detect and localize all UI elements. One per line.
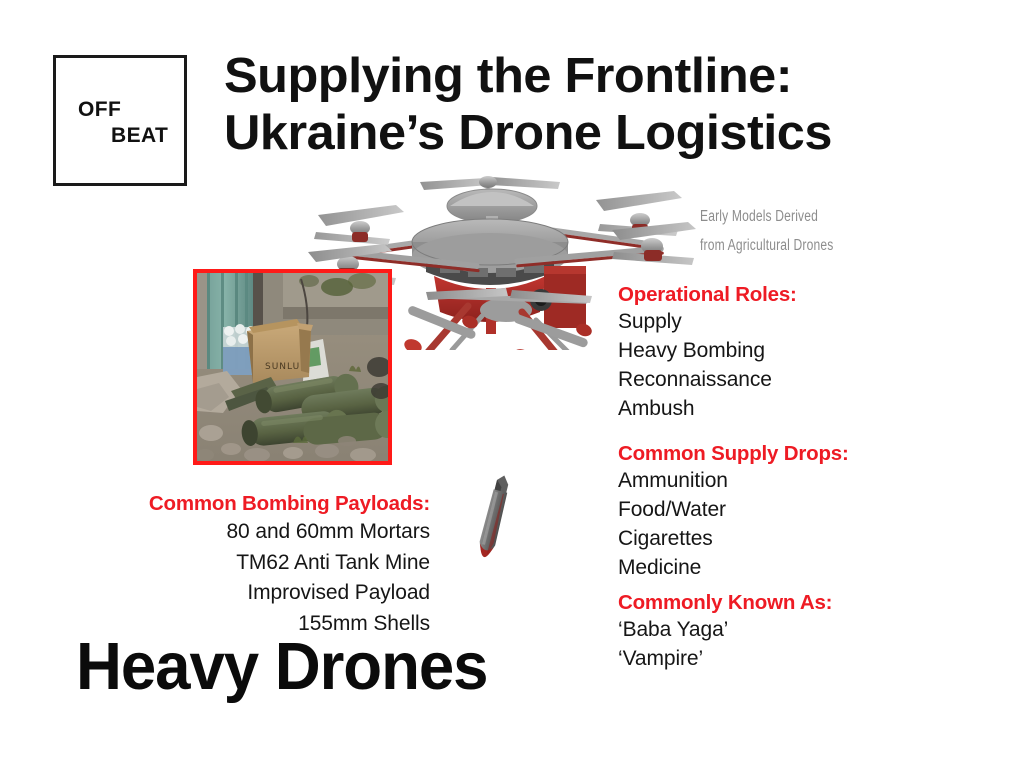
footer-heading: Heavy Drones: [76, 633, 487, 700]
operational-roles-item-4: Ambush: [618, 395, 968, 424]
drone-origin-caption: Early Models Derived from Agricultural D…: [700, 203, 903, 260]
page-title-line-1: Supplying the Frontline:: [224, 49, 792, 103]
drone-origin-caption-line-1: Early Models Derived: [700, 203, 903, 232]
common-supply-drops-heading: Common Supply Drops:: [618, 440, 968, 467]
page-title-line-2: Ukraine’s Drone Logistics: [224, 105, 1024, 162]
svg-text:SUNLU: SUNLU: [265, 362, 300, 372]
munitions-photo: SUNLU: [193, 269, 392, 465]
offbeat-logo-box: OFF BEAT: [53, 55, 187, 186]
common-supply-drops-item-3: Cigarettes: [618, 525, 968, 554]
common-supply-drops-item-4: Medicine: [618, 554, 968, 583]
mortar-bomb-icon: [452, 472, 532, 578]
supply-box: SUNLU: [247, 319, 313, 383]
common-bombing-payloads-item-3: Improvised Payload: [30, 578, 430, 608]
common-supply-drops-block: Common Supply Drops: Ammunition Food/Wat…: [618, 440, 968, 583]
logo-text-off: OFF: [78, 98, 121, 122]
operational-roles-item-2: Heavy Bombing: [618, 337, 968, 366]
operational-roles-item-3: Reconnaissance: [618, 366, 968, 395]
common-supply-drops-item-2: Food/Water: [618, 496, 968, 525]
infographic-canvas: OFF BEAT Supplying the Frontline: Ukrain…: [0, 0, 1024, 762]
commonly-known-as-block: Commonly Known As: ‘Baba Yaga’ ‘Vampire’: [618, 589, 968, 674]
page-title: Supplying the Frontline: Ukraine’s Drone…: [224, 48, 1024, 162]
common-bombing-payloads-item-2: TM62 Anti Tank Mine: [30, 548, 430, 578]
commonly-known-as-item-1: ‘Baba Yaga’: [618, 616, 968, 645]
common-bombing-payloads-block: Common Bombing Payloads: 80 and 60mm Mor…: [30, 490, 430, 639]
drone-origin-caption-line-2: from Agricultural Drones: [700, 232, 903, 261]
commonly-known-as-heading: Commonly Known As:: [618, 589, 968, 616]
operational-roles-heading: Operational Roles:: [618, 281, 968, 308]
operational-roles-block: Operational Roles: Supply Heavy Bombing …: [618, 281, 968, 424]
common-bombing-payloads-heading: Common Bombing Payloads:: [30, 490, 430, 517]
operational-roles-item-1: Supply: [618, 308, 968, 337]
common-bombing-payloads-item-1: 80 and 60mm Mortars: [30, 517, 430, 547]
common-supply-drops-item-1: Ammunition: [618, 467, 968, 496]
commonly-known-as-item-2: ‘Vampire’: [618, 645, 968, 674]
logo-text-beat: BEAT: [111, 124, 168, 148]
